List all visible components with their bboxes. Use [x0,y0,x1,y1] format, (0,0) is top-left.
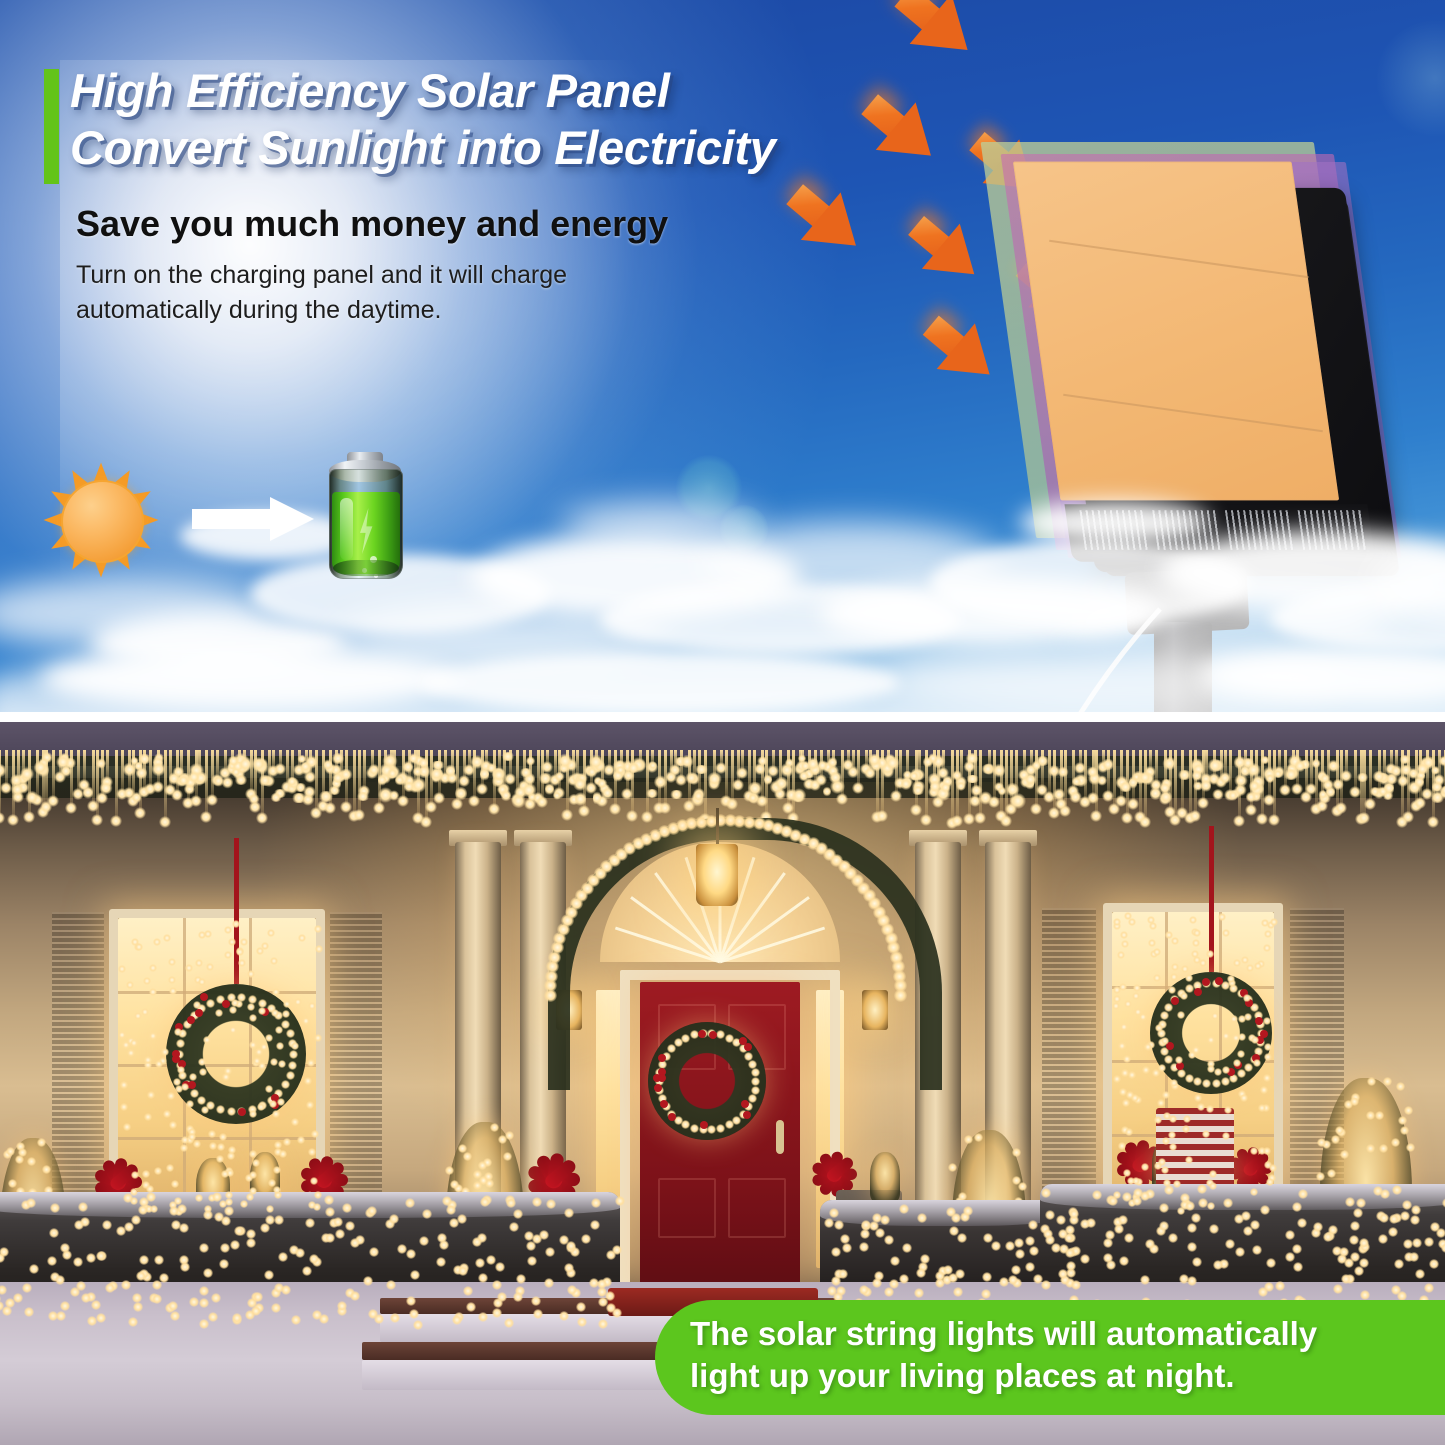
icicle-strand [1144,750,1147,821]
string-light [1103,1238,1113,1248]
string-light [1180,992,1188,1000]
icicle-bulb [578,805,590,817]
cloud [470,534,800,620]
string-light [1106,1260,1116,1270]
garland-bulb [965,753,979,764]
string-light [1243,994,1251,1002]
string-light [302,1017,310,1025]
string-light [1345,1197,1355,1207]
sun-disc [61,480,144,563]
string-light [1341,1274,1351,1284]
wreath-berry [187,1016,195,1024]
string-light [410,1270,420,1280]
string-light [564,1208,574,1218]
wreath-light [716,1124,725,1133]
icicle-strand [250,750,253,793]
string-light [1113,995,1121,1003]
icicle-strand [1229,750,1232,794]
string-light [225,1198,233,1206]
panel-cable [1000,605,1170,712]
string-light [120,1081,128,1089]
garland-bulb [602,786,613,800]
garland-bulb [755,762,766,776]
string-light [163,1110,171,1118]
garland-bulb [521,783,537,797]
icicle-bulb [420,816,432,828]
garland-bulb [669,790,684,799]
string-light [1014,1238,1024,1248]
string-light [249,1110,257,1118]
garland-bulb [1057,767,1068,777]
string-light [1168,1131,1176,1139]
string-light [224,951,232,959]
string-light [1025,1262,1035,1272]
icicle-bulb [274,763,286,775]
wreath-berry [698,1030,706,1038]
string-light [1159,1221,1169,1231]
green-battery-icon [329,452,401,588]
string-light [1350,1221,1360,1231]
string-light [834,1220,844,1230]
string-light [342,1203,352,1213]
string-light [195,1194,203,1202]
string-light [1128,918,1136,926]
door-panel [658,1178,716,1238]
shrub-light [964,1135,973,1144]
icicle-bulb [256,812,268,824]
string-light [1392,1185,1402,1195]
icicle-bulb [23,811,35,823]
wreath-light [751,1068,760,1077]
icicle-strand [115,750,118,820]
icicle-bulb [476,783,488,795]
garland-bulb [764,773,772,786]
icicle-strand [358,750,361,814]
shrub-light [948,1163,957,1172]
string-light [526,1241,536,1251]
garland-bulb [328,786,341,795]
string-light [1292,1202,1302,1212]
string-light [1161,1166,1169,1174]
string-light [1121,940,1129,948]
wreath-berry [238,1108,246,1116]
garland-bulb [952,770,962,781]
string-light [49,1228,59,1238]
string-light [1127,1177,1135,1185]
string-light [295,1248,305,1258]
garland-bulb [538,773,553,784]
string-light [169,1206,179,1216]
wreath-light [286,1029,295,1038]
icicle-strand [1107,750,1110,795]
cloud [330,600,670,670]
string-light [1244,1013,1252,1021]
string-light [246,1238,256,1248]
wreath-light [1177,1069,1186,1078]
string-light [310,1177,318,1185]
garland-bulb [152,761,165,777]
icicle-bulb [171,789,183,801]
body-line-2: automatically during the daytime. [76,293,776,328]
icicle-bulb [159,816,171,828]
string-light [1233,1059,1241,1067]
string-light [1056,1215,1066,1225]
icicle-bulb [626,810,638,822]
string-light [860,1229,870,1239]
garland-bulb [828,772,843,784]
string-light [277,1098,285,1106]
string-light [185,964,193,972]
string-light [1403,1239,1413,1249]
string-light [1211,1012,1219,1020]
garland-bulb [429,768,444,779]
garland-bulb [573,777,587,791]
string-light [337,1301,347,1311]
garland-bulb [1295,759,1306,774]
garland-bulb [1101,759,1115,770]
string-light [880,1215,890,1225]
string-light [304,1077,312,1085]
shrub-light [1316,1172,1325,1181]
string-light [1209,1224,1219,1234]
string-light [269,1100,277,1108]
icicle-bulb [852,782,864,794]
string-light [308,1002,316,1010]
shrub-light [1012,1148,1021,1157]
icicle-bulb [134,807,146,819]
wreath-light [176,1039,185,1048]
wreath-light [1202,1079,1211,1088]
panel-divider [0,712,1445,722]
icicle-bulb [91,814,103,826]
garland-bulb [248,794,260,805]
garland-bulb [403,760,413,773]
string-light [138,1205,148,1215]
panel-vent-group [1152,510,1222,550]
wreath-light [190,1089,199,1098]
string-light [199,1286,209,1296]
garland-bulb [1192,769,1202,781]
string-light [1266,1258,1276,1268]
garland-bulb [1356,773,1369,782]
icicle-bulb [1335,802,1347,814]
garland-bulb [792,788,806,802]
icicle-strand [951,750,954,822]
icicle-bulb [373,802,385,814]
string-light [1015,1249,1025,1259]
string-light [193,1140,201,1148]
string-light [442,1196,452,1206]
wreath-light [216,1105,225,1114]
string-light [531,1296,541,1306]
string-light [605,1291,615,1301]
string-light [133,1302,143,1312]
string-light [0,1285,7,1295]
garland-bulb [1032,760,1041,770]
arch-light [894,989,907,1002]
string-light [306,1101,314,1109]
lens-flare-icon [720,505,768,553]
shrub-light [1340,1150,1349,1159]
subheadline: Save you much money and energy [76,202,956,246]
string-light [274,1215,284,1225]
string-light [914,1288,924,1298]
cloud [560,502,760,546]
garland-bulb [554,772,565,781]
shrub-light [1379,1144,1388,1153]
door-handle[interactable] [776,1120,784,1154]
icicle-bulb [726,798,738,810]
garland-bulb [1010,793,1026,809]
string-light [1122,1192,1132,1202]
caption-line-2: light up your living places at night. [690,1355,1435,1397]
string-light [124,1222,134,1232]
string-light [1251,1036,1259,1044]
headline-line-1: High Efficiency Solar Panel [70,62,970,119]
string-light [234,1226,244,1236]
string-light [1117,951,1125,959]
string-light [983,1233,993,1243]
icicle-bulb [1245,804,1257,816]
wreath-light [725,1120,734,1129]
string-light [890,1256,900,1266]
string-light [1234,1214,1244,1224]
string-light [1189,916,1197,924]
shrub-light [1375,1111,1384,1120]
string-light [203,1036,211,1044]
wreath-light [281,1080,290,1089]
icicle-strand [979,750,982,817]
icicle-strand [1181,750,1184,812]
string-light [215,1009,223,1017]
string-light [209,1142,217,1150]
string-light [294,998,302,1006]
string-light [1170,973,1178,981]
body-copy: Turn on the charging panel and it will c… [76,258,776,327]
lens-flare-icon [676,455,742,521]
icicle-bulb [1000,815,1012,827]
string-light [1065,1225,1075,1235]
string-light [1041,1280,1051,1290]
wreath [648,1022,766,1140]
string-light [497,1292,507,1302]
shrub-light [1400,1126,1409,1135]
string-light [208,1130,216,1138]
string-light [406,1249,416,1259]
string-light [1181,965,1189,973]
garland-bulb [339,769,354,780]
string-light [1237,1050,1245,1058]
string-light [143,977,151,985]
icicle-bulb [468,795,480,807]
garland-bulb [1129,775,1138,791]
string-light [1209,1182,1217,1190]
icicle-bulb [1139,816,1151,828]
string-light [397,1244,407,1254]
shrub-light [974,1133,983,1142]
wreath-light [1193,1077,1202,1086]
garland-bulb [940,782,951,794]
wreath-light [288,1061,297,1070]
string-light [169,987,177,995]
shrub-light [503,1152,512,1161]
shrub-light [6,1147,15,1156]
string-light [1192,1257,1202,1267]
string-light [1264,930,1272,938]
string-light [325,1207,335,1217]
wreath-berry [1171,997,1179,1005]
shrub-light [1367,1077,1376,1086]
wreath-berry [658,1054,666,1062]
garland-bulb [404,780,414,793]
garland-bulb [11,783,24,796]
string-light [283,1000,291,1008]
garland-bulb [956,781,966,792]
porch-lantern-icon [696,844,738,906]
string-light [171,1180,179,1188]
string-light [532,1197,542,1207]
icicle-bulb [397,795,409,807]
string-light [278,1252,288,1262]
icicle-bulb [110,815,122,827]
string-light [161,1048,169,1056]
string-light [1391,1285,1401,1295]
string-light [1359,1238,1369,1248]
string-light [199,1068,207,1076]
string-light [265,1085,273,1093]
icicle-bulb [836,793,848,805]
garland-bulb [1162,757,1177,769]
string-light [199,1319,209,1329]
garland-bulb [178,774,189,786]
panel-solar-cell-surface [1013,162,1339,501]
string-light [48,1311,58,1321]
right-arrow-icon [192,497,314,541]
string-light [168,958,176,966]
string-light [291,1042,299,1050]
garland-bulb [356,792,371,802]
window-shutter [1042,908,1096,1208]
garland-bulb [455,786,467,801]
icicle-bulb [1427,816,1439,828]
icicle-bulb [951,815,963,827]
string-light [128,1317,138,1327]
caption-text: The solar string lights will automatical… [690,1313,1435,1397]
icicle-bulb [488,803,500,815]
string-light [1202,1130,1210,1138]
string-light [232,1313,242,1323]
garland-bulb [1432,780,1441,793]
string-light [859,1242,869,1252]
string-light [264,1270,274,1280]
string-light [422,1209,432,1219]
string-light [271,1303,281,1313]
string-light [1411,1205,1421,1215]
string-light [203,1210,213,1220]
shrub-light [18,1148,27,1157]
icicle-bulb [1349,786,1361,798]
icicle-strand [725,750,728,800]
string-light [1230,1015,1238,1023]
garland-bulb [389,790,399,800]
string-light [270,957,278,965]
string-light [152,1294,162,1304]
garland-bulb [622,770,636,781]
garland-bulb [923,756,933,768]
string-light [26,1198,36,1208]
battery-body [329,469,403,579]
string-light [240,1200,248,1208]
garland-bulb [545,782,553,795]
string-light [201,1106,209,1114]
garland-bulb [1399,755,1411,764]
cloud [600,582,960,656]
icicle-bulb [324,802,336,814]
shrub-light [27,1157,36,1166]
garland-bulb [774,777,789,790]
cloud [90,612,350,674]
garland-bulb [25,791,38,803]
garland-bulb [1069,791,1081,803]
arrow-shaft [192,509,274,529]
headline-line-2: Convert Sunlight into Electricity [70,119,970,176]
string-light [258,1007,266,1015]
string-light [1168,1233,1178,1243]
product-feature-image: High Efficiency Solar Panel Convert Sunl… [0,0,1445,1445]
string-light [513,1209,523,1219]
wreath-light [286,1071,295,1080]
string-light [951,1213,961,1223]
string-light [283,1138,291,1146]
string-light [1388,1227,1398,1237]
wreath-light [751,1077,760,1086]
string-light [446,1205,456,1215]
string-light [1148,939,1156,947]
string-light [1253,1059,1261,1067]
panel-vent-fins [1064,504,1375,561]
string-light [413,1320,423,1330]
wreath-berry [658,1074,666,1082]
garland-bulb [1439,755,1445,768]
string-light [24,1307,34,1317]
icicle-bulb [876,810,888,822]
string-light [228,938,236,946]
string-light [298,934,306,942]
garland-bulb [501,752,514,760]
wreath-light [716,1030,725,1039]
shrub-light [458,1144,467,1153]
string-light [166,1164,174,1172]
string-light [544,1278,554,1288]
body-line-1: Turn on the charging panel and it will c… [76,258,776,293]
string-light [449,1218,459,1228]
panel-vent-group [1298,510,1368,550]
garland-bulb [798,771,809,780]
string-light [902,1243,912,1253]
string-light [478,1312,488,1322]
shrub-light [1366,1111,1375,1120]
icicle-bulb [0,812,5,824]
string-light [240,938,248,946]
garland-bulb [817,760,828,771]
caption-line-1: The solar string lights will automatical… [690,1313,1435,1355]
string-light [232,920,240,928]
string-light [1415,1269,1425,1279]
string-light [1192,939,1200,947]
string-light [199,1298,209,1308]
string-light [273,1186,281,1194]
icicle-strand [704,750,707,818]
